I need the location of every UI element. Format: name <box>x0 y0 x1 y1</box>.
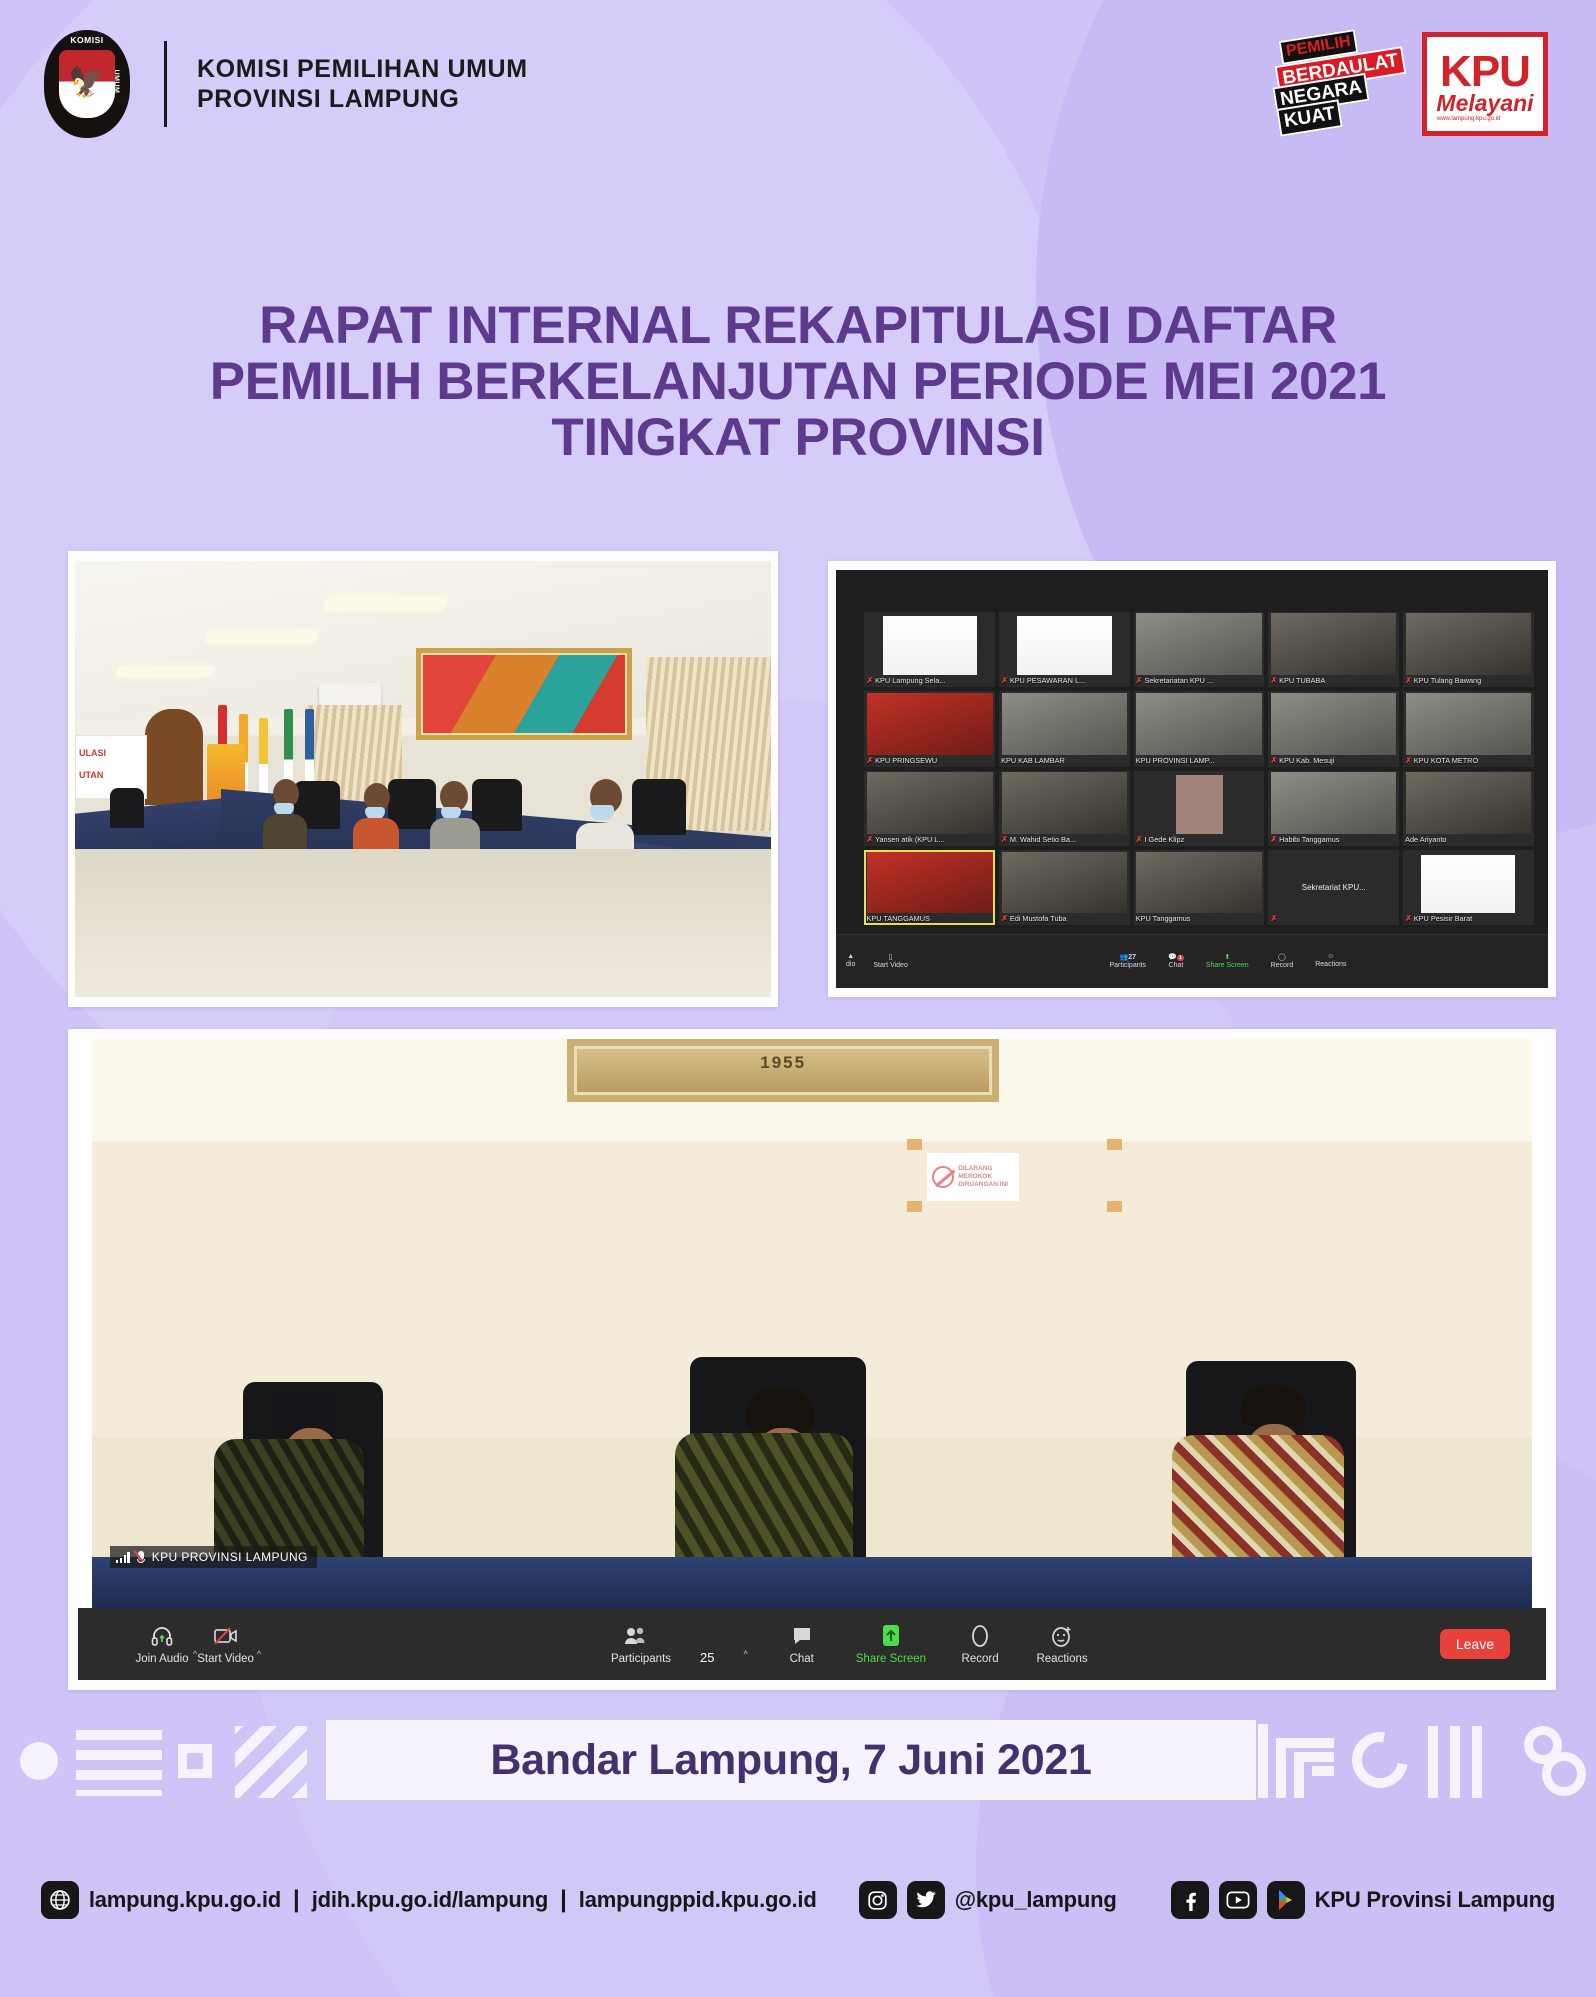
zoom-participant-tile[interactable]: KPU Tanggamus <box>1134 850 1265 925</box>
reactions-label: Reactions <box>1036 1653 1087 1665</box>
participant-video-thumb <box>1176 775 1223 834</box>
decoration-diagonal-stripes <box>235 1726 307 1798</box>
zoom-speaker-view: 1955 DILARANG MEROKOK DIRUANGAN INI <box>78 1039 1546 1680</box>
participant-video-thumb <box>1136 613 1261 675</box>
leave-button[interactable]: Leave <box>1440 1629 1510 1659</box>
title-line-1: RAPAT INTERNAL REKAPITULASI DAFTAR <box>259 296 1337 355</box>
participant-name-text: Edi Mustofa Tuba <box>1010 914 1067 923</box>
mic-muted-icon: ✗ <box>1136 676 1143 685</box>
participant-name-label: ✗ <box>1270 914 1397 923</box>
zoom-participant-tile[interactable]: ✗KPU KOTA METRO <box>1403 691 1534 766</box>
participant-name-text: KPU PRINGSEWU <box>875 756 937 765</box>
zoom-participant-tile[interactable]: ✗KPU Kab. Mesuji <box>1268 691 1399 766</box>
gallery-participants-button[interactable]: 👥27 Participants <box>1109 953 1146 969</box>
speaker-video-area: 1955 DILARANG MEROKOK DIRUANGAN INI <box>92 1039 1532 1608</box>
org-line-2: PROVINSI LAMPUNG <box>197 84 528 115</box>
gallery-participants-label: Participants <box>1109 962 1146 969</box>
mic-muted-icon: ✗ <box>866 676 873 685</box>
speaker-2-hair <box>747 1388 813 1432</box>
speaker-2-body <box>675 1433 853 1557</box>
participant-name-text: Sekretariatan KPU ... <box>1144 676 1213 685</box>
room-door <box>145 709 203 805</box>
participant-name-text: I Gede Klipz <box>1144 835 1184 844</box>
mic-muted-icon: ✗ <box>866 756 873 765</box>
participant-name-label: KPU KAB LAMBAR <box>1001 756 1128 765</box>
zoom-participant-tile[interactable]: ✗KPU Pesisir Barat <box>1403 850 1534 925</box>
zoom-toolbar-left: Join Audio ^ Start Video ^ <box>134 1623 261 1665</box>
participant-video-thumb <box>1421 855 1515 914</box>
decoration-corner-brackets <box>1258 1724 1334 1798</box>
zoom-participant-tile[interactable]: KPU KAB LAMBAR <box>999 691 1130 766</box>
participant-name-text: Yansen atik (KPU L... <box>875 835 944 844</box>
participant-name-label: ✗KPU Tulang Bawang <box>1405 676 1532 685</box>
seal-ring-top: KOMISI <box>44 35 130 45</box>
tape-bottom-left <box>907 1201 922 1212</box>
no-smoking-icon <box>932 1166 954 1188</box>
participant-name-text: KPU TANGGAMUS <box>866 914 929 923</box>
reactions-icon: ☺ <box>1327 953 1334 960</box>
participants-chevron-up-icon[interactable]: ^ <box>744 1649 748 1659</box>
gallery-start-video-button[interactable]: ▯ Start Video <box>873 953 908 969</box>
zoom-participant-tile[interactable]: ✗KPU PESAWARAN L... <box>999 612 1130 687</box>
zoom-gallery-toolbar-left: ▲ dio ▯ Start Video <box>846 953 908 969</box>
mic-muted-icon: ✗ <box>1405 914 1412 923</box>
participant-name-text: KPU TUBABA <box>1279 676 1325 685</box>
zoom-participant-tile[interactable]: ✗KPU Lampung Sela... <box>864 612 995 687</box>
participant-name-label: ✗Yansen atik (KPU L... <box>866 835 993 844</box>
participant-video-thumb <box>1271 613 1396 675</box>
seal-shield-icon: 🦅 <box>59 50 115 118</box>
photo-zoom-gallery: ✗KPU Lampung Sela...✗KPU PESAWARAN L...✗… <box>828 561 1556 997</box>
location-date-text: Bandar Lampung, 7 Juni 2021 <box>490 1736 1091 1785</box>
participant-name-label: ✗Sekretariatan KPU ... <box>1136 676 1263 685</box>
brand-divider <box>164 41 167 127</box>
reactions-icon <box>1050 1623 1074 1649</box>
zoom-participant-tile[interactable]: ✗Edi Mustofa Tuba <box>999 850 1130 925</box>
participant-name-label: ✗KPU PRINGSEWU <box>866 756 993 765</box>
footer-ppid-link[interactable]: lampungppid.kpu.go.id <box>579 1887 817 1913</box>
participants-count: 25 <box>700 1650 714 1665</box>
globe-icon <box>41 1881 79 1919</box>
ceiling-lamp-2 <box>205 631 320 643</box>
mic-muted-icon: ✗ <box>1405 676 1412 685</box>
participant-video-thumb <box>1017 616 1111 675</box>
participant-name-text: KPU Tanggamus <box>1136 914 1191 923</box>
signal-strength-icon <box>116 1552 130 1563</box>
footer-separator-2: | <box>560 1886 567 1914</box>
zoom-participant-tile[interactable]: ✗Habibi Tanggamus <box>1268 771 1399 846</box>
participants-icon <box>624 1623 658 1649</box>
footer-social-handle[interactable]: @kpu_lampung <box>955 1887 1117 1913</box>
mic-muted-icon: ✗ <box>1270 835 1277 844</box>
decoration-circle <box>20 1742 58 1780</box>
frame-year-label: 1955 <box>760 1053 806 1073</box>
participant-video-thumb <box>1406 613 1531 675</box>
gallery-reactions-label: Reactions <box>1315 961 1346 968</box>
banner-line-1: ULASI <box>79 748 146 758</box>
gallery-share-screen-button[interactable]: ⬆ Share Screen <box>1206 953 1249 969</box>
share-screen-icon: ⬆ <box>1224 953 1230 961</box>
chair-3 <box>472 779 522 831</box>
speaker-name-label: KPU PROVINSI LAMPUNG <box>110 1546 317 1568</box>
zoom-participant-grid: ✗KPU Lampung Sela...✗KPU PESAWARAN L...✗… <box>864 612 1533 930</box>
air-conditioner <box>319 683 381 705</box>
wall-picture-frame: 1955 <box>567 1039 999 1102</box>
gallery-start-video-label: Start Video <box>873 962 908 969</box>
decoration-circle-b <box>1542 1752 1586 1796</box>
participant-name-label: ✗Edi Mustofa Tuba <box>1001 914 1128 923</box>
google-play-icon[interactable] <box>1267 1881 1305 1919</box>
zoom-participant-tile[interactable]: KPU PROVINSI LAMP... <box>1134 691 1265 766</box>
decoration-partial-ring <box>1341 1721 1419 1799</box>
participant-name-text: KPU KOTA METRO <box>1414 756 1478 765</box>
participant-name-text: KPU PESAWARAN L... <box>1010 676 1085 685</box>
person-1-body <box>263 814 307 850</box>
no-smoking-text: DILARANG MEROKOK DIRUANGAN INI <box>958 1165 1008 1189</box>
participant-name-label: ✗KPU KOTA METRO <box>1405 756 1532 765</box>
org-line-1: KOMISI PEMILIHAN UMUM <box>197 54 528 85</box>
mic-muted-icon: ✗ <box>866 835 873 844</box>
gallery-chat-button[interactable]: 💬1 Chat <box>1168 953 1184 969</box>
participant-name-label: Ade Ariyanto <box>1405 835 1532 844</box>
participant-name-text: KPU Lampung Sela... <box>875 676 945 685</box>
participant-video-thumb <box>1002 772 1127 834</box>
mic-muted-icon: ✗ <box>1136 835 1143 844</box>
speaker-1-body <box>214 1439 364 1557</box>
kpu-melayani-acronym: KPU <box>1440 53 1530 91</box>
tape-top-right <box>1107 1139 1122 1150</box>
gallery-join-audio-button[interactable]: ▲ dio <box>846 953 855 969</box>
header-logos: PEMILIH BERDAULAT NEGARA KUAT KPU Melaya… <box>1276 30 1548 138</box>
participant-name-label: ✗I Gede Klipz <box>1136 835 1263 844</box>
gallery-join-audio-label: dio <box>846 961 855 968</box>
tape-top-left <box>907 1139 922 1150</box>
flag-yellow <box>259 718 268 802</box>
title-line-2: PEMILIH BERKELANJUTAN PERIODE MEI 2021 <box>210 352 1387 411</box>
photo-zoom-speaker-image: 1955 DILARANG MEROKOK DIRUANGAN INI <box>78 1039 1546 1680</box>
zoom-participant-tile[interactable]: ✗I Gede Klipz <box>1134 771 1265 846</box>
zoom-participant-tile[interactable]: ✗Sekretariatan KPU ... <box>1134 612 1265 687</box>
participant-video-thumb <box>867 852 992 914</box>
photo-zoom-gallery-image: ✗KPU Lampung Sela...✗KPU PESAWARAN L...✗… <box>836 570 1548 988</box>
participant-name-label: ✗KPU Lampung Sela... <box>866 676 993 685</box>
no-smoking-line-3: DIRUANGAN INI <box>958 1181 1008 1189</box>
mic-muted-icon: ✗ <box>1001 835 1008 844</box>
mic-muted-icon <box>136 1551 146 1564</box>
chat-bubble-icon: 💬1 <box>1168 953 1184 961</box>
zoom-gallery-toolbar-mid: 👥27 Participants 💬1 Chat ⬆ Share Screen … <box>1109 953 1346 969</box>
banner-line-2: UTAN <box>79 770 146 780</box>
participants-label: Participants <box>611 1653 671 1665</box>
brand-lockup: KOMISI PEMILIHAN UMUM 🦅 KOMISI PEMILIHAN… <box>44 30 528 138</box>
zoom-participant-tile[interactable]: ✗KPU PRINGSEWU <box>864 691 995 766</box>
wall-infographic-frame <box>416 648 632 740</box>
record-icon <box>969 1623 991 1649</box>
zoom-participant-tile[interactable]: Sekretariat KPU...✗ <box>1268 850 1399 925</box>
instagram-icon[interactable] <box>859 1881 897 1919</box>
participant-name-text: KPU Kab. Mesuji <box>1279 756 1334 765</box>
participant-name-text: KPU Pesisir Barat <box>1414 914 1472 923</box>
organization-name: KOMISI PEMILIHAN UMUM PROVINSI LAMPUNG <box>197 54 528 115</box>
gallery-chat-label: Chat <box>1169 962 1184 969</box>
mic-muted-icon: ✗ <box>1001 914 1008 923</box>
decoration-square-outline <box>178 1744 212 1778</box>
gallery-chat-badge: 1 <box>1177 955 1184 961</box>
decoration-horizontal-bars <box>76 1730 162 1796</box>
gallery-participants-count: 27 <box>1128 954 1136 961</box>
video-off-icon <box>213 1623 239 1649</box>
gallery-share-screen-label: Share Screen <box>1206 962 1249 969</box>
facebook-icon[interactable] <box>1171 1881 1209 1919</box>
footer-channel-name[interactable]: KPU Provinsi Lampung <box>1315 1887 1555 1913</box>
chat-bubble-icon <box>791 1623 813 1649</box>
gallery-reactions-button[interactable]: ☺ Reactions <box>1315 953 1346 969</box>
speaker-name-text: KPU PROVINSI LAMPUNG <box>152 1550 308 1564</box>
participant-name-label: ✗M. Wahid Setio Ba... <box>1001 835 1128 844</box>
zoom-speaker-toolbar: Join Audio ^ Start Video ^ <box>78 1608 1546 1680</box>
slogan-badge: PEMILIH BERDAULAT NEGARA KUAT <box>1276 30 1396 138</box>
participant-name-label: ✗KPU Pesisir Barat <box>1405 914 1532 923</box>
gallery-record-label: Record <box>1271 962 1294 969</box>
join-audio-button[interactable]: Join Audio <box>134 1623 190 1665</box>
decoration-vertical-bars <box>1428 1726 1494 1798</box>
title-line-3: TINGKAT PROVINSI <box>551 408 1044 467</box>
kpu-seal-icon: KOMISI PEMILIHAN UMUM 🦅 <box>44 30 130 138</box>
room-floor <box>75 849 771 997</box>
participant-name-label: KPU PROVINSI LAMP... <box>1136 756 1263 765</box>
no-smoking-sign: DILARANG MEROKOK DIRUANGAN INI <box>927 1153 1019 1201</box>
footer-website[interactable]: lampung.kpu.go.id <box>89 1887 281 1913</box>
photo-meeting-room-image: ULASI UTAN <box>75 561 771 997</box>
participant-video-thumb <box>1002 693 1127 755</box>
participant-name-text: KPU KAB LAMBAR <box>1001 756 1065 765</box>
chair-4 <box>632 779 686 835</box>
participant-name-text: KPU Tulang Bawang <box>1414 676 1481 685</box>
headset-icon <box>150 1623 174 1649</box>
participant-name-text: M. Wahid Setio Ba... <box>1010 835 1076 844</box>
mic-muted-icon: ✗ <box>1270 756 1277 765</box>
reactions-button[interactable]: Reactions <box>1034 1623 1090 1665</box>
participant-name-text: Habibi Tanggamus <box>1279 835 1339 844</box>
twitter-icon[interactable] <box>907 1881 945 1919</box>
kpu-melayani-logo: KPU Melayani www.lampung.kpu.go.id <box>1422 32 1548 136</box>
participant-name-text: KPU PROVINSI LAMP... <box>1136 756 1215 765</box>
ceiling-lamp-3 <box>114 666 215 677</box>
mic-muted-icon: ✗ <box>1270 914 1277 923</box>
participants-button[interactable]: Participants <box>611 1623 671 1665</box>
participant-video-thumb <box>1271 772 1396 834</box>
location-date-plate: Bandar Lampung, 7 Juni 2021 <box>326 1720 1256 1800</box>
zoom-participant-tile[interactable]: Ade Ariyanto <box>1403 771 1534 846</box>
no-smoking-line-2: MEROKOK <box>958 1173 1008 1181</box>
no-smoking-line-1: DILARANG <box>958 1165 1008 1173</box>
photo-zoom-speaker: 1955 DILARANG MEROKOK DIRUANGAN INI <box>68 1029 1556 1690</box>
footer-separator-1: | <box>293 1886 300 1914</box>
record-icon: ◯ <box>1278 953 1286 961</box>
start-video-button[interactable]: Start Video <box>197 1623 254 1665</box>
participant-video-thumb <box>1271 693 1396 755</box>
zoom-participant-tile[interactable]: ✗M. Wahid Setio Ba... <box>999 771 1130 846</box>
room-scene: ULASI UTAN <box>75 561 771 997</box>
chat-label: Chat <box>790 1653 814 1665</box>
mic-muted-icon: ✗ <box>1270 676 1277 685</box>
participant-name-label: ✗KPU PESAWARAN L... <box>1001 676 1128 685</box>
ceiling-lamp-1 <box>322 596 448 610</box>
mic-muted-icon: ✗ <box>1405 756 1412 765</box>
participant-video-thumb <box>883 616 977 675</box>
speaker-3-body <box>1172 1435 1344 1557</box>
chat-button[interactable]: Chat <box>774 1623 830 1665</box>
kpu-melayani-url: www.lampung.kpu.go.id <box>1437 116 1500 122</box>
garuda-icon: 🦅 <box>68 68 105 98</box>
headset-icon: ▲ <box>847 953 854 960</box>
kpu-melayani-word: Melayani <box>1436 92 1533 115</box>
video-off-icon: ▯ <box>889 953 893 961</box>
zoom-participant-tile[interactable]: ✗Yansen atik (KPU L... <box>864 771 995 846</box>
participant-name-label: ✗Habibi Tanggamus <box>1270 835 1397 844</box>
mic-muted-icon: ✗ <box>1001 676 1008 685</box>
share-screen-label: Share Screen <box>856 1653 926 1665</box>
participant-name-label: KPU TANGGAMUS <box>866 914 993 923</box>
share-screen-icon <box>880 1623 902 1649</box>
participant-name-label: KPU Tanggamus <box>1136 914 1263 923</box>
zoom-participant-tile[interactable]: ✗KPU Tulang Bawang <box>1403 612 1534 687</box>
participant-video-thumb <box>1136 693 1261 755</box>
participant-video-thumb <box>867 693 992 755</box>
speaker-3-hair <box>1241 1384 1305 1426</box>
person-4-mask <box>590 805 614 820</box>
share-screen-button[interactable]: Share Screen <box>856 1623 926 1665</box>
youtube-icon[interactable] <box>1219 1881 1257 1919</box>
participant-name-text: Ade Ariyanto <box>1405 835 1446 844</box>
chair-empty-1 <box>110 788 144 828</box>
participant-video-thumb <box>1136 852 1261 914</box>
join-audio-label: Join Audio <box>135 1653 188 1665</box>
chair-2 <box>388 779 436 829</box>
zoom-toolbar-center: Participants 25 ^ Chat <box>611 1623 1090 1665</box>
record-label: Record <box>962 1653 999 1665</box>
participant-video-thumb <box>1406 693 1531 755</box>
start-video-label: Start Video <box>197 1653 254 1665</box>
participant-video-thumb <box>1406 772 1531 834</box>
page-header: KOMISI PEMILIHAN UMUM 🦅 KOMISI PEMILIHAN… <box>0 0 1596 168</box>
gallery-record-button[interactable]: ◯ Record <box>1271 953 1294 969</box>
zoom-gallery-toolbar: ▲ dio ▯ Start Video 👥27 Participants 💬1 … <box>836 934 1548 988</box>
zoom-participant-tile[interactable]: ✗KPU TUBABA <box>1268 612 1399 687</box>
participant-video-thumb <box>1002 852 1127 914</box>
participants-icon: 👥27 <box>1120 953 1137 961</box>
page-footer: lampung.kpu.go.id | jdih.kpu.go.id/lampu… <box>0 1862 1596 1938</box>
location-date-band: Bandar Lampung, 7 Juni 2021 <box>0 1712 1596 1808</box>
participant-video-thumb <box>867 772 992 834</box>
photo-meeting-room: ULASI UTAN <box>68 551 778 1007</box>
page-title: RAPAT INTERNAL REKAPITULASI DAFTAR PEMIL… <box>0 298 1596 467</box>
tape-bottom-right <box>1107 1201 1122 1212</box>
footer-jdih-link[interactable]: jdih.kpu.go.id/lampung <box>312 1887 548 1913</box>
participant-name-label: ✗KPU Kab. Mesuji <box>1270 756 1397 765</box>
record-button[interactable]: Record <box>952 1623 1008 1665</box>
video-chevron-up-icon[interactable]: ^ <box>257 1649 261 1659</box>
zoom-participant-tile[interactable]: KPU TANGGAMUS <box>864 850 995 925</box>
participant-name-label: ✗KPU TUBABA <box>1270 676 1397 685</box>
decoration-overlapping-circles <box>1508 1726 1588 1800</box>
